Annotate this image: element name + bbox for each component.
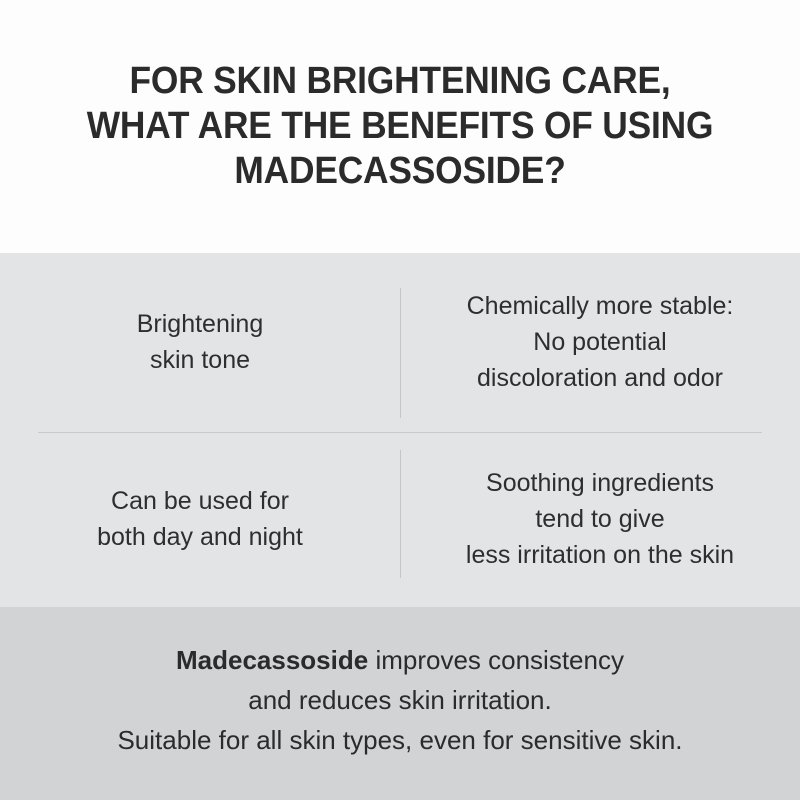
- benefit-cell-soothing-ingredients: Soothing ingredients tend to give less i…: [400, 430, 800, 607]
- benefit-line: Chemically more stable:: [467, 288, 734, 324]
- benefit-text: Brightening skin tone: [137, 306, 263, 378]
- benefit-text: Soothing ingredients tend to give less i…: [466, 465, 734, 573]
- benefit-cell-day-and-night-use: Can be used for both day and night: [0, 430, 400, 607]
- infographic-poster: FOR SKIN BRIGHTENING CARE, WHAT ARE THE …: [0, 0, 800, 800]
- summary-section: Madecassoside improves consistency and r…: [0, 607, 800, 800]
- summary-text: Madecassoside improves consistency and r…: [20, 640, 780, 768]
- benefit-line: skin tone: [137, 342, 263, 378]
- benefit-cell-brightening-skin-tone: Brightening skin tone: [0, 253, 400, 430]
- page-title: FOR SKIN BRIGHTENING CARE, WHAT ARE THE …: [56, 59, 744, 194]
- headline-line-2: WHAT ARE THE BENEFITS OF USING: [56, 104, 744, 149]
- benefit-line: No potential: [467, 324, 734, 360]
- benefit-line: both day and night: [97, 519, 303, 555]
- headline-section: FOR SKIN BRIGHTENING CARE, WHAT ARE THE …: [0, 0, 800, 253]
- summary-keyword: Madecassoside: [176, 645, 368, 675]
- summary-line-1-rest: improves consistency: [368, 645, 624, 675]
- benefit-line: Brightening: [137, 306, 263, 342]
- horizontal-divider: [38, 432, 762, 433]
- benefit-cell-chemically-more-stable: Chemically more stable: No potential dis…: [400, 253, 800, 430]
- headline-line-1: FOR SKIN BRIGHTENING CARE,: [56, 59, 744, 104]
- benefit-line: less irritation on the skin: [466, 537, 734, 573]
- vertical-divider-bottom: [400, 450, 401, 578]
- benefit-text: Can be used for both day and night: [97, 483, 303, 555]
- benefits-section: Brightening skin tone Chemically more st…: [0, 253, 800, 607]
- benefit-line: Soothing ingredients: [466, 465, 734, 501]
- vertical-divider-top: [400, 288, 401, 418]
- summary-line-3: Suitable for all skin types, even for se…: [20, 720, 780, 760]
- benefit-line: discoloration and odor: [467, 360, 734, 396]
- benefit-line: Can be used for: [97, 483, 303, 519]
- headline-line-3: MADECASSOSIDE?: [56, 149, 744, 194]
- summary-line-2: and reduces skin irritation.: [20, 680, 780, 720]
- benefit-line: tend to give: [466, 501, 734, 537]
- benefit-text: Chemically more stable: No potential dis…: [467, 288, 734, 396]
- summary-line-1: Madecassoside improves consistency: [20, 640, 780, 680]
